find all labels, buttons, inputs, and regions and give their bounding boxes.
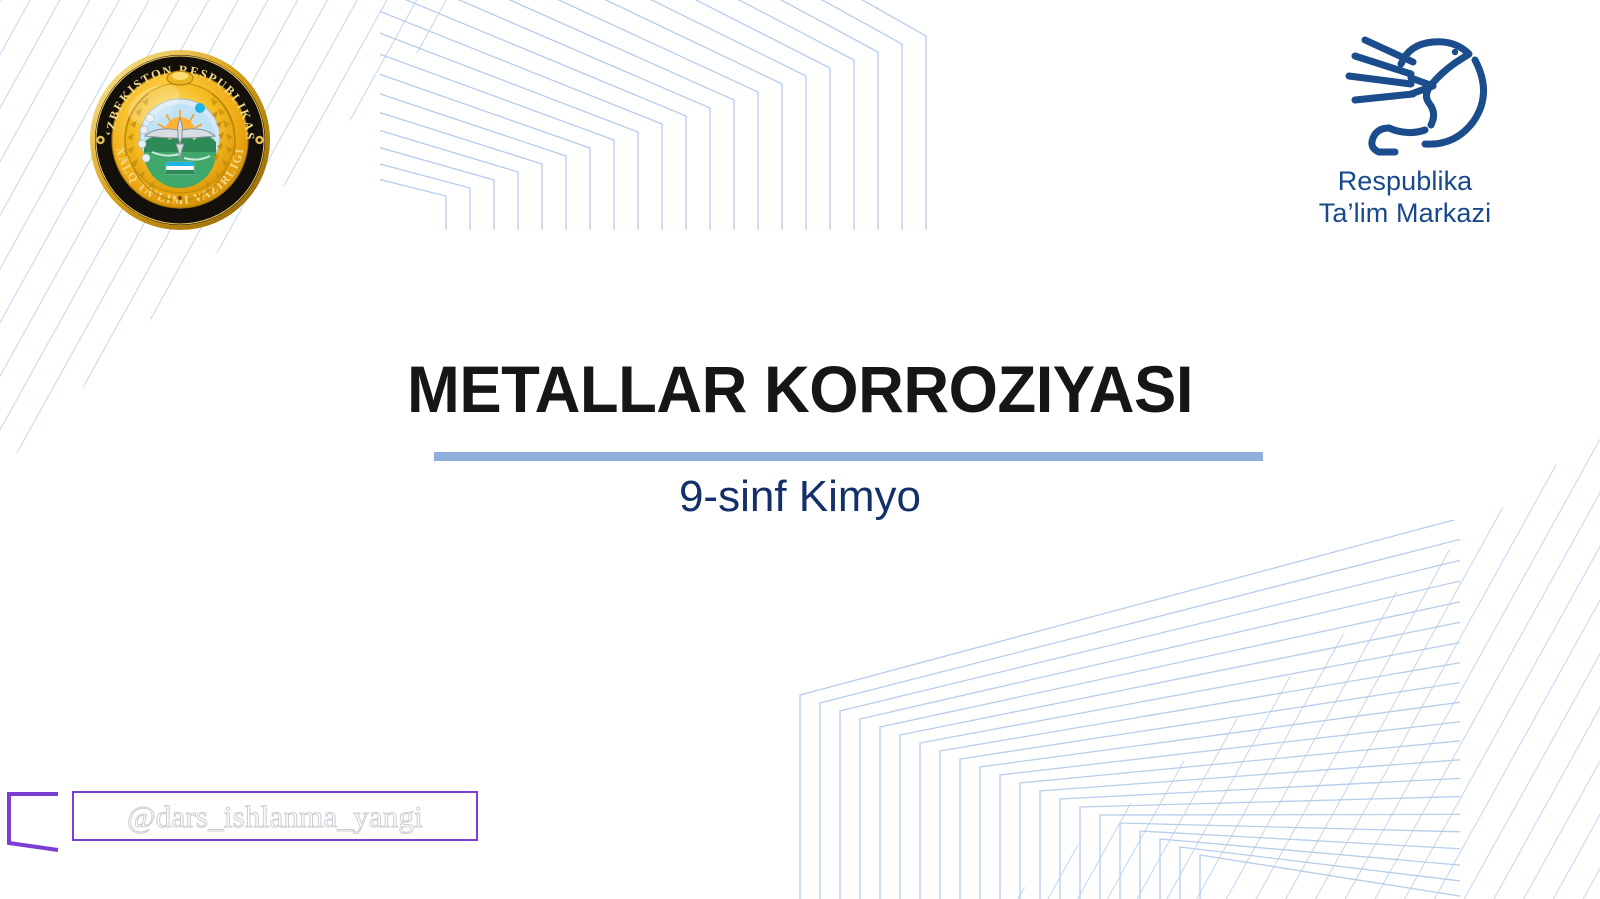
watermark-handle: @dars_ishlanma_yangi [127,801,423,832]
respublika-talim-markazi-logo: Respublika Ta’lim Markazi [1298,22,1512,234]
title-block: METALLAR KORROZIYASI [0,355,1600,425]
page-subtitle: 9-sinf Kimyo [0,469,1600,524]
page-title: METALLAR KORROZIYASI [32,355,1568,425]
rtm-logo-line1: Respublika [1319,166,1491,198]
title-underline-rule [434,452,1263,461]
uzbekistan-ministry-seal-logo: O‘ZBEKISTON RESPUBLIKASI XALQ TA’LIMI VA… [88,48,272,232]
corner-bracket-icon [4,791,62,853]
rtm-logo-line2: Ta’lim Markazi [1319,198,1491,230]
slide-root: O‘ZBEKISTON RESPUBLIKASI XALQ TA’LIMI VA… [0,0,1600,899]
rtm-logo-text: Respublika Ta’lim Markazi [1319,166,1491,230]
watermark-badge: @dars_ishlanma_yangi [72,791,478,841]
dove-bird-icon [1315,22,1495,162]
